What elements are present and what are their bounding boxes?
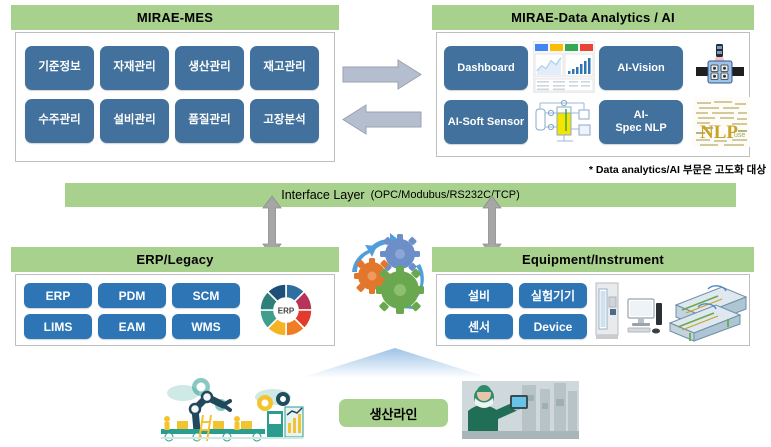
analytics-module-label-line2: Spec NLP: [615, 122, 666, 135]
mes-module-label: 재고관리: [263, 61, 305, 74]
equipment-header-label: Equipment/Instrument: [522, 252, 664, 267]
mes-module-label: 생산관리: [188, 61, 230, 74]
equipment-module-silheom[interactable]: 실험기기: [519, 283, 587, 308]
analytics-module-label-line1: AI-: [634, 109, 649, 122]
analytics-footnote: * Data analytics/AI 부문은 고도화 대상: [520, 162, 766, 178]
analytics-module-label: AI-Vision: [617, 62, 664, 75]
mes-module-jaego[interactable]: 재고관리: [250, 46, 319, 90]
gear-green: [376, 266, 424, 314]
equipment-header: Equipment/Instrument: [432, 247, 754, 272]
analytics-footnote-text: * Data analytics/AI 부문은 고도화 대상: [589, 164, 766, 176]
erp-module-erp[interactable]: ERP: [24, 283, 92, 308]
arrow-left-icon: [343, 105, 421, 135]
mes-module-label: 설비관리: [113, 114, 155, 127]
instrument-workstation-icon: [592, 281, 664, 343]
mes-header-label: MIRAE-MES: [137, 10, 213, 25]
erp-module-label: LIMS: [44, 320, 73, 334]
vision-camera-icon: [694, 42, 746, 92]
erp-module-label: EAM: [119, 320, 146, 334]
erp-module-pdm[interactable]: PDM: [98, 283, 166, 308]
gears-icon: [338, 228, 438, 320]
equipment-module-seolbi[interactable]: 설비: [445, 283, 513, 308]
equipment-module-label: 설비: [468, 287, 490, 304]
mes-module-label: 고장분석: [263, 114, 305, 127]
analytics-header-label: MIRAE-Data Analytics / AI: [511, 10, 675, 25]
erp-module-label: ERP: [46, 289, 71, 303]
svg-text:NLP: NLP: [700, 122, 738, 143]
mes-module-label: 수주관리: [38, 114, 80, 127]
erp-module-label: SCM: [193, 289, 220, 303]
analytics-module-spec-nlp[interactable]: AI- Spec NLP: [599, 100, 683, 144]
equipment-module-label: 센서: [468, 318, 490, 335]
mes-module-label: 자재관리: [113, 61, 155, 74]
smart-factory-illustration: [155, 375, 305, 445]
mes-module-pumjil[interactable]: 품질관리: [175, 99, 244, 143]
mes-module-label: 품질관리: [188, 114, 230, 127]
mes-module-saengsan[interactable]: 생산관리: [175, 46, 244, 90]
analytics-module-label: Dashboard: [457, 62, 514, 75]
analytics-module-soft-sensor[interactable]: AI-Soft Sensor: [444, 100, 528, 144]
equipment-module-sensor[interactable]: 센서: [445, 314, 513, 339]
erp-module-eam[interactable]: EAM: [98, 314, 166, 339]
production-line-badge: 생산라인: [339, 399, 448, 427]
mes-module-suju[interactable]: 수주관리: [25, 99, 94, 143]
equipment-module-label: Device: [534, 320, 573, 334]
svg-text:use: use: [734, 132, 745, 139]
mes-module-gijun[interactable]: 기준정보: [25, 46, 94, 90]
erp-module-label: WMS: [191, 320, 220, 334]
erp-module-label: PDM: [119, 289, 146, 303]
analytics-header: MIRAE-Data Analytics / AI: [432, 5, 754, 30]
mes-module-gojang[interactable]: 고장분석: [250, 99, 319, 143]
mes-header: MIRAE-MES: [11, 5, 339, 30]
erp-header-label: ERP/Legacy: [136, 252, 213, 267]
erp-header: ERP/Legacy: [11, 247, 339, 272]
mes-module-seolbi[interactable]: 설비관리: [100, 99, 169, 143]
nlp-wordcloud-icon: NLP use: [694, 97, 750, 147]
analytics-module-ai-vision[interactable]: AI-Vision: [599, 46, 683, 90]
production-machine-icon: [668, 283, 750, 343]
analytics-module-label: AI-Soft Sensor: [448, 116, 524, 129]
dashboard-thumbnail-icon: [533, 41, 595, 93]
wide-up-arrow-icon: [300, 348, 490, 380]
production-line-label: 생산라인: [370, 404, 418, 423]
mes-module-jajae[interactable]: 자재관리: [100, 46, 169, 90]
process-diagram-icon: [533, 97, 595, 147]
erp-wheel-icon: ERP: [256, 281, 316, 339]
arrow-right-icon: [343, 60, 421, 90]
interface-layer-label: Interface Layer: [281, 188, 364, 202]
erp-module-wms[interactable]: WMS: [172, 314, 240, 339]
operator-photo: [462, 381, 579, 439]
analytics-module-dashboard[interactable]: Dashboard: [444, 46, 528, 90]
equipment-module-device[interactable]: Device: [519, 314, 587, 339]
erp-wheel-label: ERP: [278, 307, 295, 316]
equipment-module-label: 실험기기: [531, 287, 575, 304]
interface-layer-bar: Interface Layer (OPC/Modubus/RS232C/TCP): [65, 183, 736, 207]
erp-module-lims[interactable]: LIMS: [24, 314, 92, 339]
erp-module-scm[interactable]: SCM: [172, 283, 240, 308]
mes-module-label: 기준정보: [38, 61, 80, 74]
